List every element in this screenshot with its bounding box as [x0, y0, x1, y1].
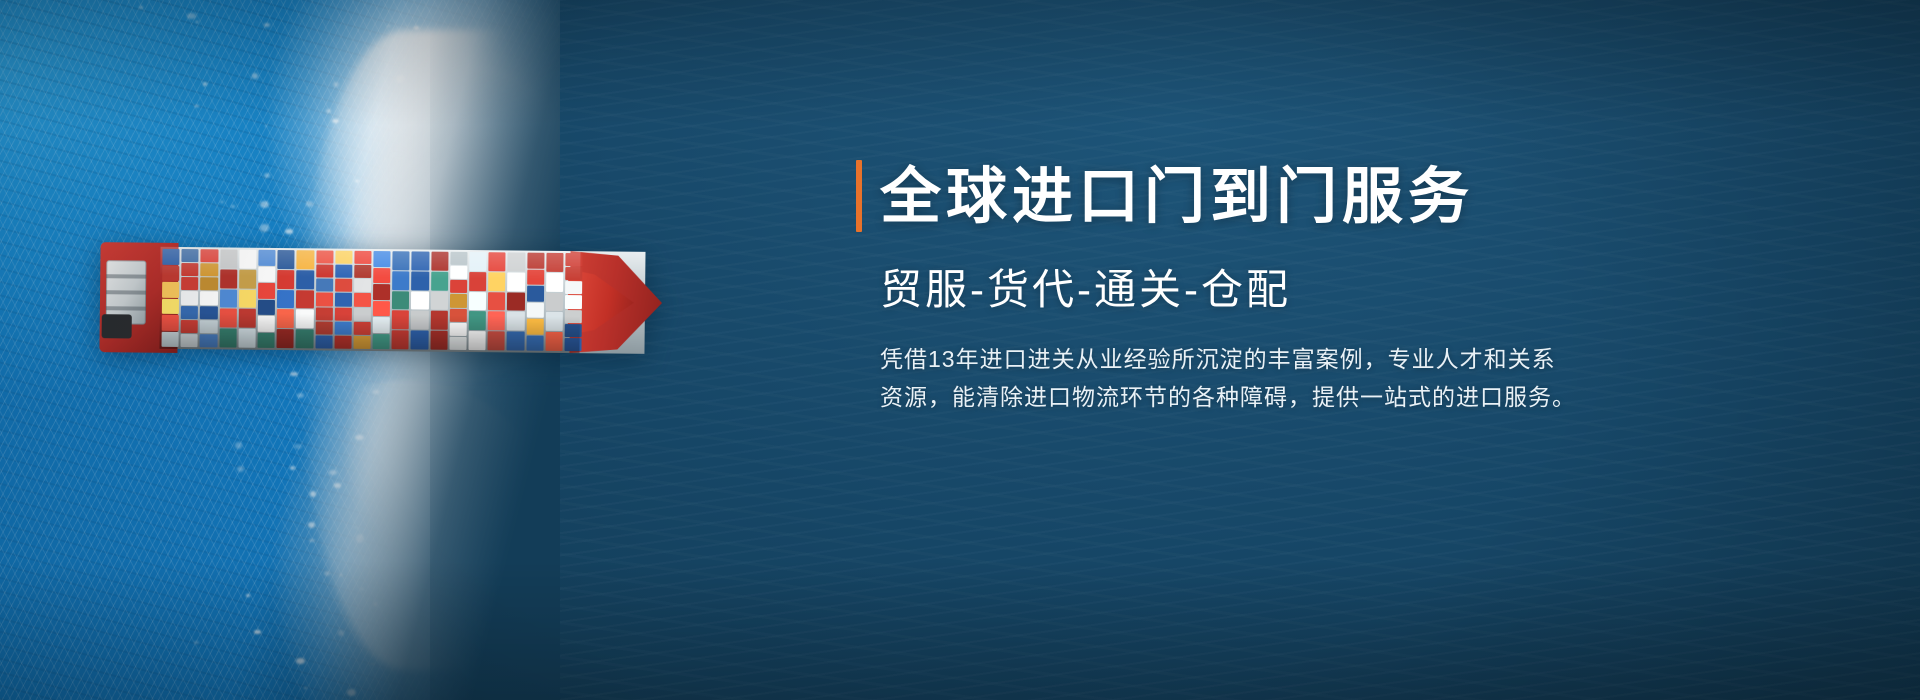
banner-headline: 全球进口门到门服务 — [880, 160, 1474, 232]
banner-content: 全球进口门到门服务 贸服-货代-通关-仓配 凭借13年进口进关从业经验所沉淀的丰… — [856, 160, 1676, 416]
banner-subheadline: 贸服-货代-通关-仓配 — [880, 264, 1676, 316]
headline-row: 全球进口门到门服务 — [856, 160, 1676, 232]
accent-bar — [856, 160, 862, 232]
description-line-1: 凭借13年进口进关从业经验所沉淀的丰富案例，专业人才和关系 — [880, 340, 1640, 378]
banner-description: 凭借13年进口进关从业经验所沉淀的丰富案例，专业人才和关系 资源，能清除进口物流… — [880, 340, 1640, 416]
description-line-2: 资源，能清除进口物流环节的各种障碍，提供一站式的进口服务。 — [880, 378, 1640, 416]
hero-banner: 全球进口门到门服务 贸服-货代-通关-仓配 凭借13年进口进关从业经验所沉淀的丰… — [0, 0, 1920, 700]
